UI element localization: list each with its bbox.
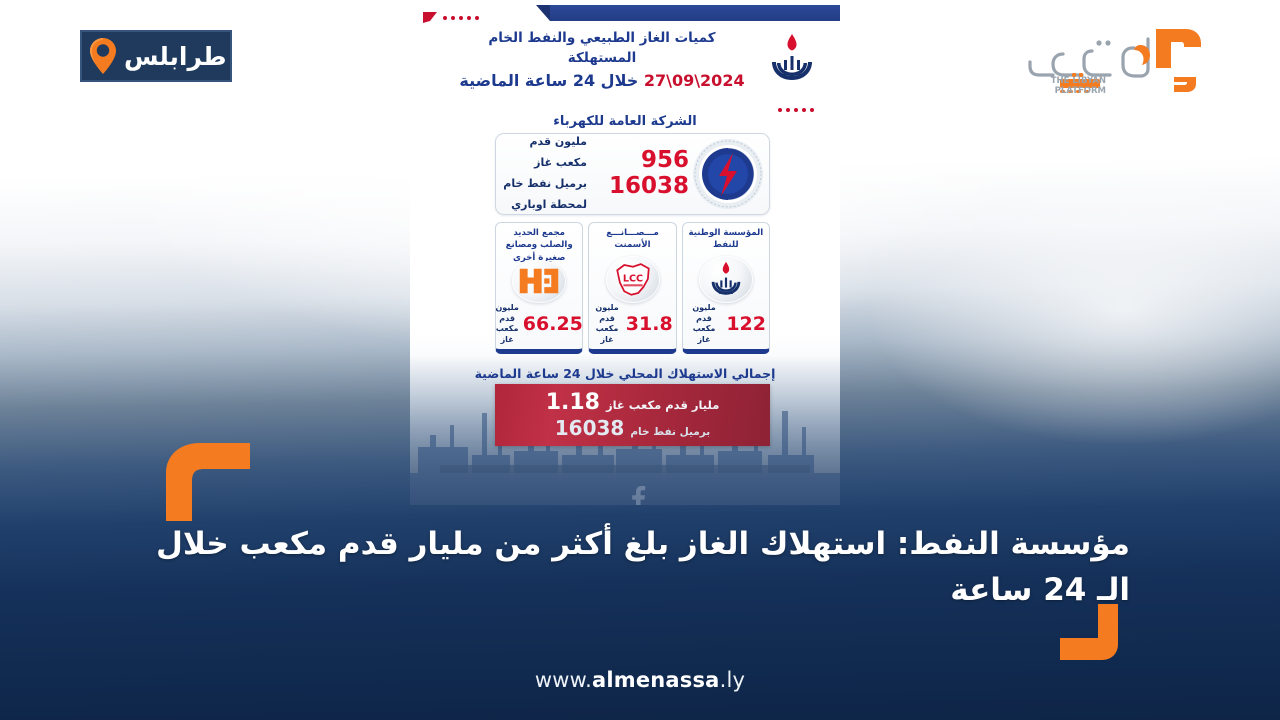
- sector-card-value: 66.25: [523, 315, 583, 334]
- panel-header: كميات الغاز الطبيعي والنفط الخام المستهل…: [452, 28, 752, 93]
- total-unit-oil: برميل نفط خام: [630, 426, 710, 438]
- url-brand: almenassa: [592, 668, 720, 692]
- gecol-label-gas: مليون قدم مكعب غاز: [496, 132, 587, 174]
- panel-header-line2: 2024\09\27 خلال 24 ساعة الماضية: [452, 69, 752, 94]
- headline: مؤسسة النفط: استهلاك الغاز بلغ أكثر من م…: [130, 522, 1130, 614]
- gecol-emblem-icon: [691, 137, 765, 211]
- sector-card-title: مـــصـــانـــع الأسمنت: [592, 227, 672, 253]
- sector-cards: المؤسسة الوطنية للنفط 122 م: [495, 222, 770, 354]
- website-url[interactable]: www.almenassa.ly: [0, 668, 1280, 692]
- sector-card-cement: مـــصـــانـــع الأسمنت LCC 31.8 مليون قد…: [588, 222, 676, 354]
- sector-card-iron-steel: مجمع الحديد والصلب ومصانع صغيرة أخرى 66.…: [495, 222, 583, 354]
- total-row-gas: مليار قدم مكعب غاز 1.18: [546, 391, 720, 415]
- gecol-label-oil: برميل نفط خام لمحطة اوباري: [496, 174, 587, 216]
- sector-card-noc: المؤسسة الوطنية للنفط 122 م: [682, 222, 770, 354]
- brand-en-line1: THE LIBYAN: [1051, 76, 1106, 86]
- brand-en-line2: PLATFORM: [1055, 86, 1106, 95]
- panel-header-period: خلال 24 ساعة الماضية: [459, 71, 638, 90]
- panel-header-line1: كميات الغاز الطبيعي والنفط الخام المستهل…: [452, 28, 752, 69]
- brand-logo[interactable]: THE LIBYAN PLATFORM: [998, 16, 1208, 96]
- panel-top-blue-strip: [550, 5, 840, 21]
- gecol-value-gas: 956: [641, 148, 689, 174]
- gecol-value-oil: 16038: [609, 174, 689, 200]
- panel-header-date: 2024\09\27: [644, 71, 745, 90]
- lcc-cement-logo-icon: LCC: [606, 256, 660, 303]
- svg-text:LCC: LCC: [622, 274, 642, 285]
- gecol-title: الشركة العامة للكهرباء: [410, 114, 840, 129]
- url-prefix: www.: [535, 668, 592, 692]
- gecol-values: 956 16038: [593, 148, 689, 200]
- sector-card-figure: 66.25 مليون قدم مكعب غاز: [499, 303, 579, 349]
- location-badge-label: طرابلس: [124, 44, 227, 69]
- total-row-oil: برميل نفط خام 16038: [555, 417, 711, 439]
- orange-bracket-left-decoration: [160, 443, 252, 525]
- sector-card-value: 122: [726, 315, 766, 334]
- total-value-gas: 1.18: [546, 391, 600, 415]
- almenassa-logo-icon: THE LIBYAN PLATFORM: [998, 17, 1206, 95]
- decorative-dots-top: [443, 16, 479, 20]
- sector-card-value: 31.8: [626, 315, 673, 334]
- noc-logo-icon: [699, 256, 753, 303]
- sector-card-figure: 122 مليون قدم مكعب غاز: [686, 303, 766, 349]
- total-unit-gas: مليار قدم مكعب غاز: [606, 398, 719, 412]
- location-badge: طرابلس: [80, 30, 232, 82]
- poster-stage: طرابلس: [0, 0, 1280, 720]
- infographic-panel: كميات الغاز الطبيعي والنفط الخام المستهل…: [410, 0, 840, 505]
- noc-logo-icon: [764, 30, 820, 86]
- gecol-card: 956 16038 مليون قدم مكعب غاز برميل نفط خ…: [495, 133, 770, 215]
- sector-card-figure: 31.8 مليون قدم مكعب غاز: [592, 303, 672, 349]
- decorative-dots-middle: [778, 108, 814, 112]
- sector-card-unit: مليون قدم مكعب غاز: [592, 303, 621, 346]
- sector-card-unit: مليون قدم مكعب غاز: [495, 303, 518, 346]
- gecol-labels: مليون قدم مكعب غاز برميل نفط خام لمحطة ا…: [496, 132, 593, 216]
- map-pin-icon: [88, 37, 118, 75]
- total-box: مليار قدم مكعب غاز 1.18 برميل نفط خام 16…: [495, 384, 770, 446]
- url-suffix: .ly: [720, 668, 746, 692]
- total-value-oil: 16038: [555, 417, 625, 439]
- total-title: إجمالي الاستهلاك المحلي خلال 24 ساعة الم…: [410, 366, 840, 381]
- sector-card-title: المؤسسة الوطنية للنفط: [686, 227, 766, 253]
- sector-card-unit: مليون قدم مكعب غاز: [686, 303, 723, 346]
- red-flag-nib-icon: [423, 11, 437, 25]
- libyan-iron-steel-logo-icon: [512, 260, 566, 303]
- sector-card-title: مجمع الحديد والصلب ومصانع صغيرة أخرى: [499, 227, 579, 257]
